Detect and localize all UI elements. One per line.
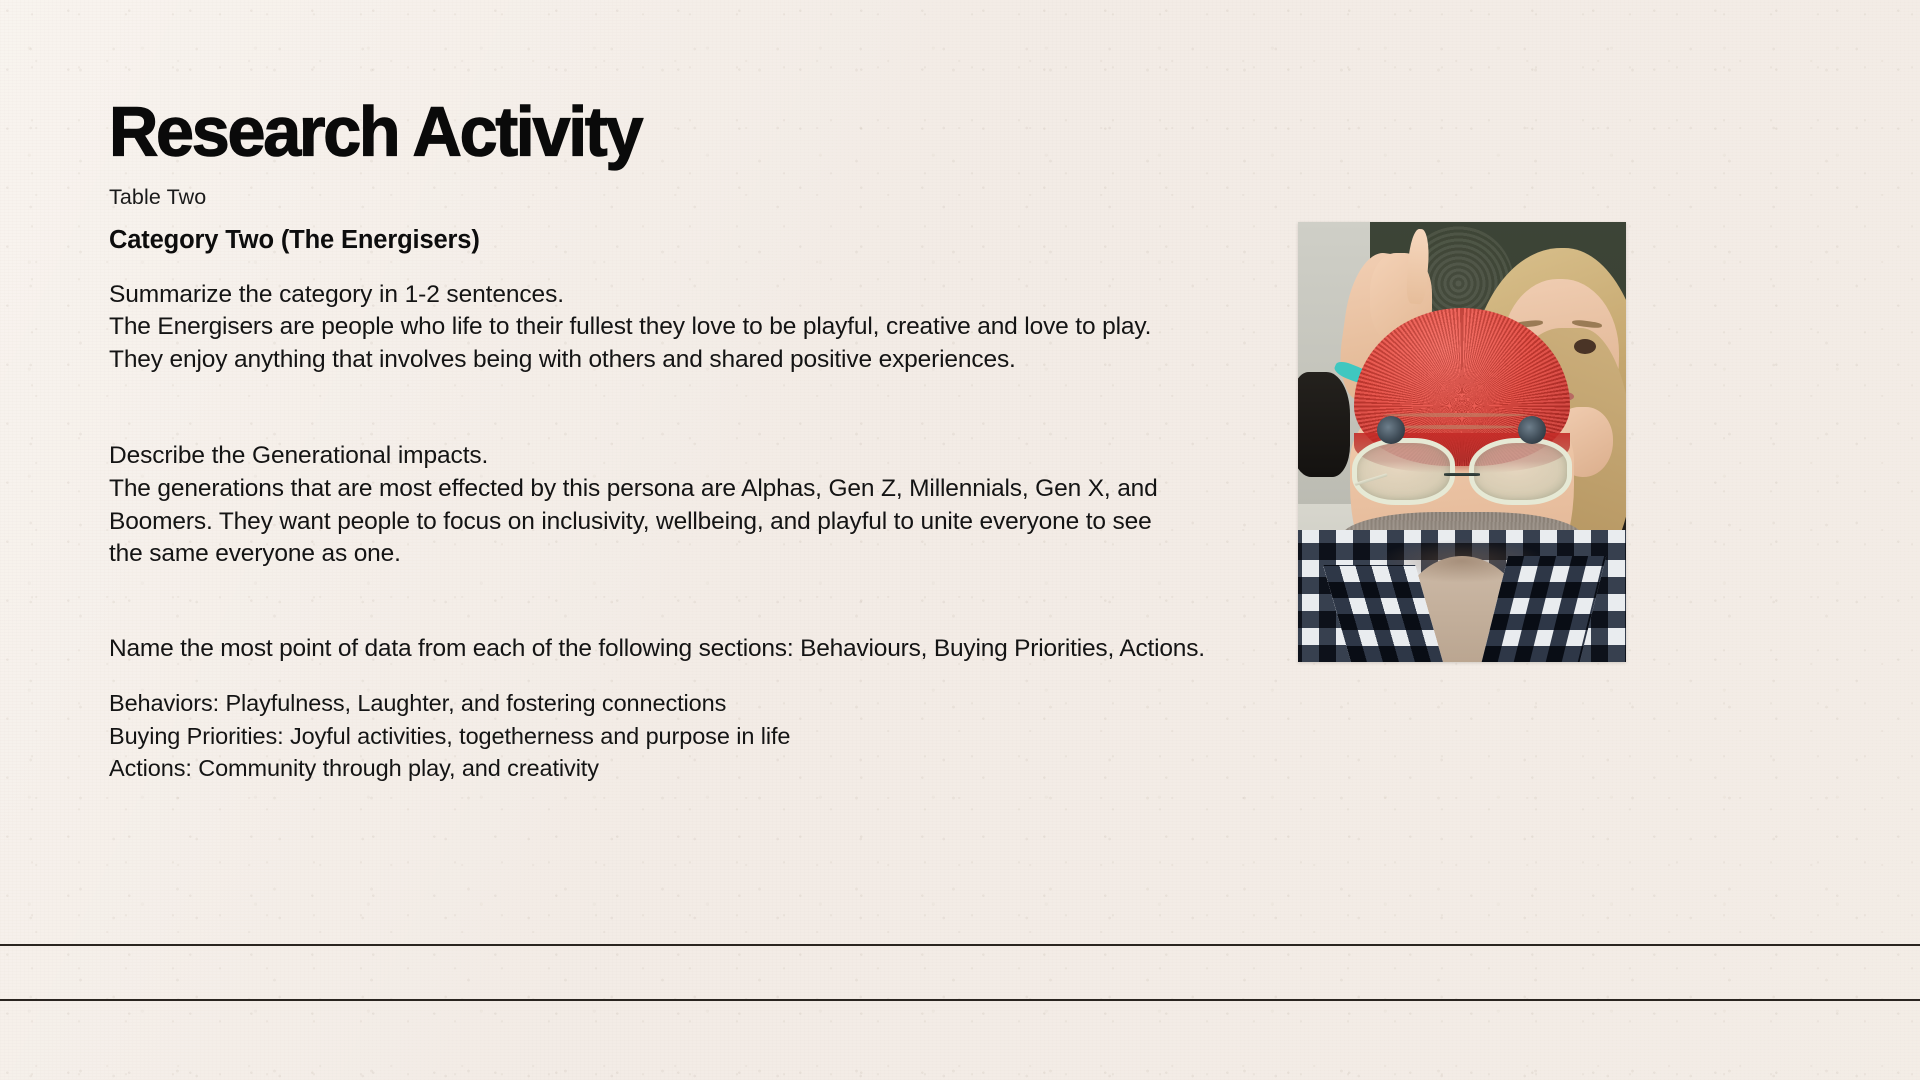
photo-inner xyxy=(1298,222,1626,662)
slide-canvas: Research Activity Table Two Category Two… xyxy=(0,0,1920,1080)
goggle-lens-right xyxy=(1469,438,1572,505)
man-eye-right xyxy=(1518,416,1546,444)
page-title: Research Activity xyxy=(109,96,1351,166)
generational-section: Describe the Generational impacts. The g… xyxy=(109,440,1309,570)
summary-answer: The Energisers are people who life to th… xyxy=(109,311,1184,376)
category-heading: Category Two (The Energisers) xyxy=(109,225,1309,257)
content-column: Research Activity Table Two Category Two… xyxy=(109,96,1309,785)
goggle-lens-left xyxy=(1352,438,1455,505)
goggle-bridge xyxy=(1444,473,1481,476)
section-spacer xyxy=(109,571,1309,633)
data-point-actions: Actions: Community through play, and cre… xyxy=(109,752,1309,784)
data-point-buying-priorities: Buying Priorities: Joyful activities, to… xyxy=(109,720,1309,752)
girl-sleeve-left xyxy=(1298,372,1350,478)
data-points-question: Name the most point of data from each of… xyxy=(109,633,1309,666)
footer-rule-top xyxy=(0,944,1920,946)
summary-prompt: Summarize the category in 1-2 sentences. xyxy=(109,279,1309,312)
table-label: Table Two xyxy=(109,184,1309,211)
man-eye-left xyxy=(1377,416,1405,444)
persona-photo xyxy=(1298,222,1626,662)
swim-goggles xyxy=(1347,435,1577,508)
footer-rule-bottom xyxy=(0,999,1920,1001)
data-points-section: Name the most point of data from each of… xyxy=(109,633,1309,785)
summary-section: Summarize the category in 1-2 sentences.… xyxy=(109,279,1309,377)
data-point-behaviors: Behaviors: Playfulness, Laughter, and fo… xyxy=(109,687,1309,719)
generational-answer: The generations that are most effected b… xyxy=(109,473,1184,571)
generational-prompt: Describe the Generational impacts. xyxy=(109,440,1309,473)
section-spacer xyxy=(109,376,1309,440)
